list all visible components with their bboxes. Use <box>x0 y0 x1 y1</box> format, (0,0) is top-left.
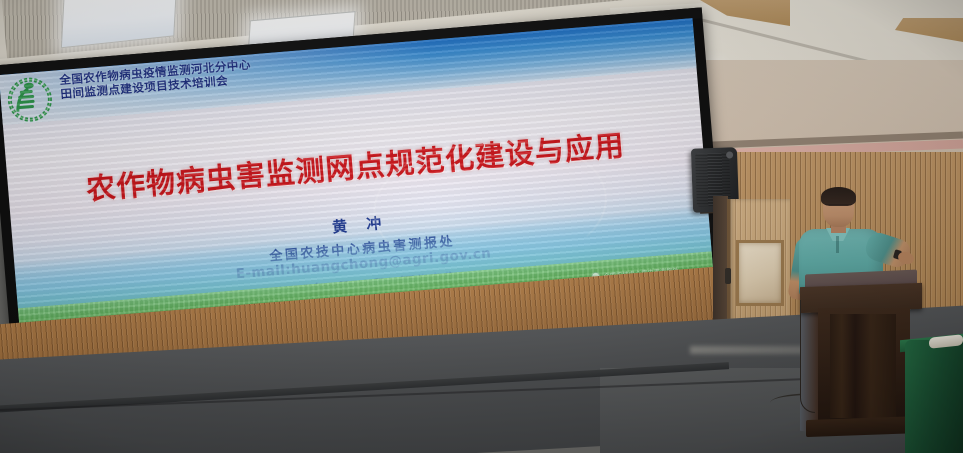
podium-body <box>818 308 910 426</box>
podium-cable <box>800 300 815 413</box>
green-draped-table <box>905 340 963 453</box>
photo-scene: 全国农作物病虫疫情监测河北分中心 田间监测点建设项目技术培训会 农作物病虫害监测… <box>0 0 963 453</box>
door-panel-inset <box>736 240 784 306</box>
slide-logo-icon <box>3 75 57 125</box>
door-handle[interactable] <box>725 268 731 284</box>
speaker-knob-icon <box>726 151 733 158</box>
presenter-shirt-placket <box>836 236 839 253</box>
glasses-icon <box>825 204 852 211</box>
podium-front-panel <box>830 314 896 418</box>
